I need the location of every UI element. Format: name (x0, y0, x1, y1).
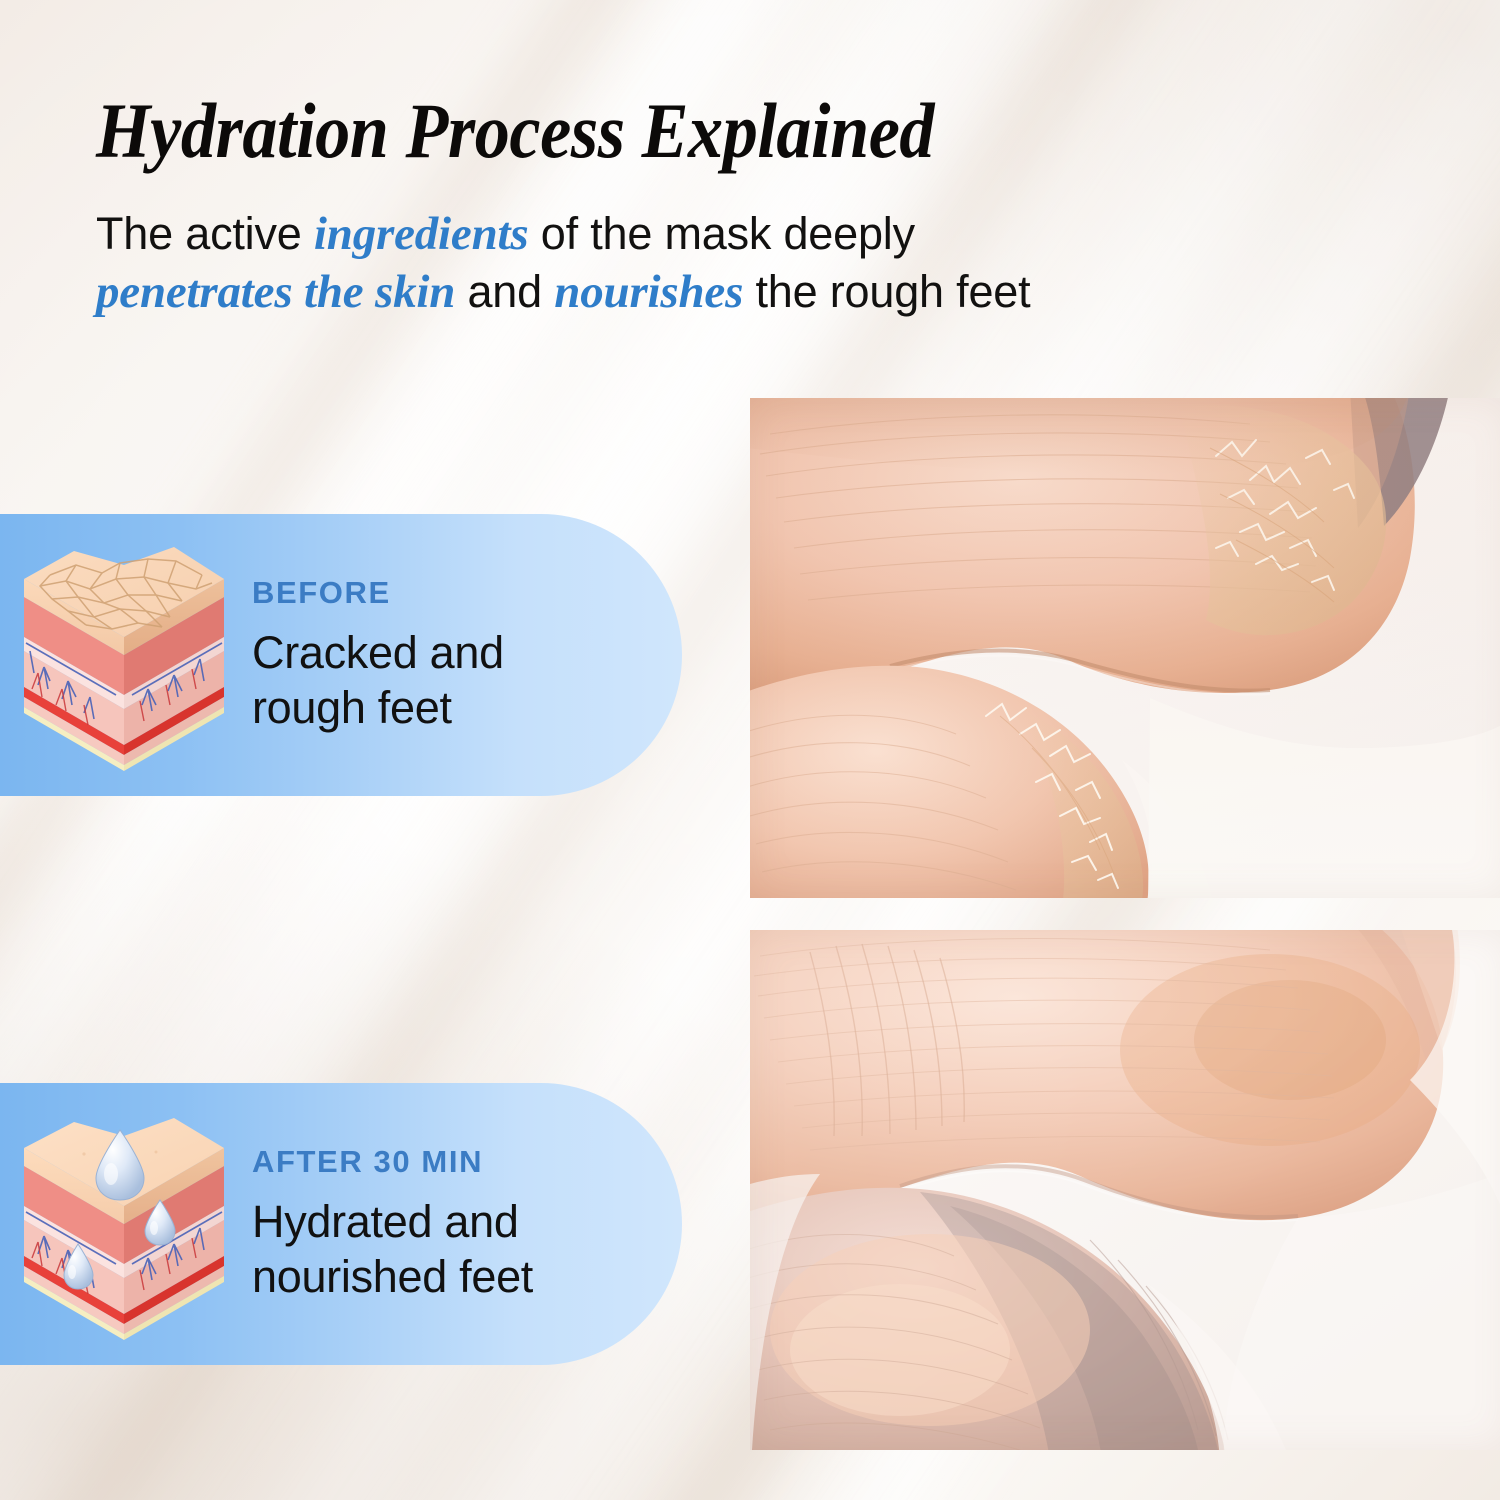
step-body-after: Hydrated and nourished feet (252, 1194, 533, 1304)
step-kicker-after: AFTER 30 MIN (252, 1144, 533, 1180)
subtitle-text-3: and (455, 266, 554, 317)
step-card-after: AFTER 30 MIN Hydrated and nourished feet (0, 1083, 682, 1365)
subtitle-highlight-penetrates: penetrates the skin (96, 266, 455, 318)
subtitle-highlight-ingredients: ingredients (314, 208, 529, 260)
cracked-dry-heels-photo (750, 398, 1500, 898)
step-text-after: AFTER 30 MIN Hydrated and nourished feet (248, 1144, 533, 1304)
subtitle-text-1: The active (96, 208, 314, 259)
infographic-page: Hydration Process Explained The active i… (0, 0, 1500, 1500)
skin-cross-section-hydrated-icon (0, 1108, 248, 1340)
smooth-hydrated-heels-photo (750, 930, 1500, 1450)
step-text-before: BEFORE Cracked and rough feet (248, 575, 504, 735)
skin-cross-section-cracked-icon (0, 539, 248, 771)
step-card-before: BEFORE Cracked and rough feet (0, 514, 682, 796)
page-subtitle: The active ingredients of the mask deepl… (96, 205, 1156, 321)
subtitle-highlight-nourishes: nourishes (554, 266, 743, 318)
photo-inner-shadow (750, 398, 1500, 898)
photo-inner-shadow (750, 930, 1500, 1450)
subtitle-text-4: the rough feet (743, 266, 1030, 317)
step-body-before: Cracked and rough feet (252, 625, 504, 735)
page-title: Hydration Process Explained (96, 90, 934, 172)
subtitle-text-2: of the mask deeply (528, 208, 914, 259)
step-kicker-before: BEFORE (252, 575, 504, 611)
